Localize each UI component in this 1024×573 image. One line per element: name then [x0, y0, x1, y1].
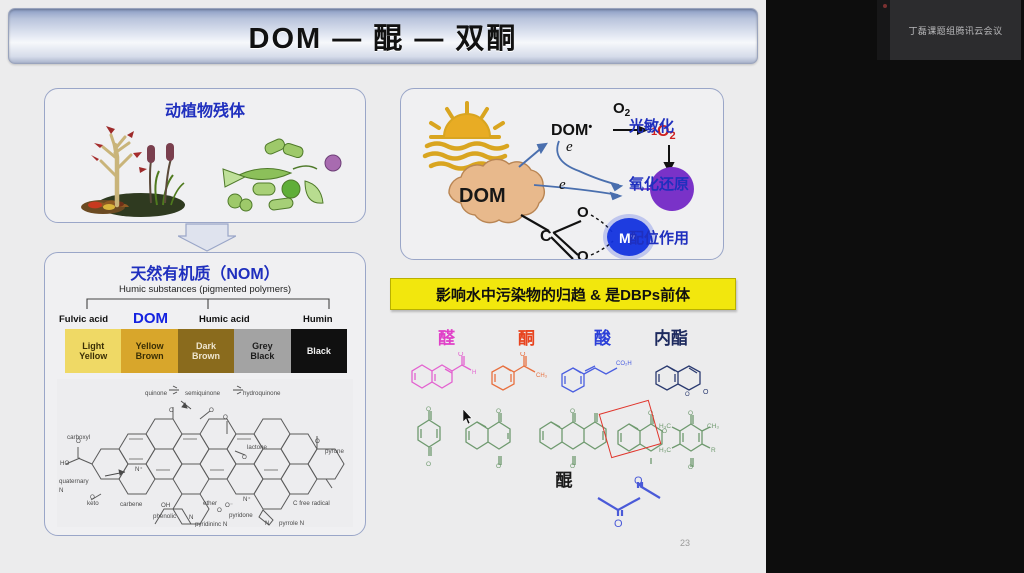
molecule-anthraquinone: [540, 413, 606, 465]
dom-excited-label: DOM•: [551, 121, 592, 139]
nom-panel: 天然有机质（NOM） Humic substances (pigmented p…: [44, 252, 366, 536]
diketone-o-label-top: O: [634, 476, 643, 487]
label-phenolic: phenolic: [153, 513, 176, 520]
label-quaternary-n: quaternary: [59, 478, 89, 485]
key-message-text: 影响水中污染物的归趋 & 是DBPs前体: [436, 284, 690, 305]
carbonyl-molecule-row: O H O CH₃ CO₂H O O: [404, 352, 724, 404]
quinone-o-label: O: [688, 410, 693, 417]
quinone-o-label: O: [426, 406, 431, 413]
segment-line2: Brown: [192, 351, 220, 361]
label-n-pyridine: N: [189, 514, 193, 521]
label-o-lactone-ring: O: [242, 454, 247, 461]
segment-line1: Grey: [252, 341, 273, 351]
molecule-naphthaldehyde: [412, 356, 471, 388]
ketone-o-label: O: [520, 352, 526, 358]
humic-substances-bracket: [67, 296, 347, 310]
label-o-quinone: O: [169, 407, 174, 414]
label-o-pyrone: O: [315, 438, 320, 445]
segment-line1: Yellow: [136, 341, 164, 351]
nom-panel-title: 天然有机质（NOM）: [45, 260, 365, 284]
class-label-ketone: 酮: [518, 324, 535, 349]
molecule-coumarin: [656, 366, 700, 390]
nom-fraction-labels: Fulvic acid DOM Humic acid Humin: [55, 310, 355, 328]
dom-cloud-label: DOM: [459, 185, 506, 207]
segment-line2: Yellow: [79, 351, 107, 361]
label-quaternary-n2: N: [59, 487, 63, 494]
slide-title-banner: DOM — 醌 — 双酮: [8, 8, 758, 64]
nom-color-bar: Light Yellow Yellow Brown Dark Brown Gre…: [65, 329, 347, 373]
segment-line1: Light: [82, 341, 104, 351]
quinone-o-label: O: [570, 408, 575, 415]
slide-stage: DOM — 醌 — 双酮 动植物残体: [0, 0, 766, 573]
effect-label-photosensitization: 光敏化: [629, 115, 674, 136]
carbonyl-class-labels: 醛 酮 酸 内酯: [404, 324, 724, 352]
label-o-lactone: O: [223, 414, 228, 421]
label-hydroquinone: hydroquinone: [243, 390, 281, 397]
aldehyde-o-label: O: [458, 352, 464, 358]
nom-color-segment: Black: [291, 329, 347, 373]
nom-color-segment: Yellow Brown: [121, 329, 177, 373]
nom-label-fulvic-acid: Fulvic acid: [59, 314, 108, 325]
video-thumbnail-label: 丁磊课题组腾讯云会议: [908, 24, 1002, 37]
label-oh: OH: [161, 502, 170, 509]
segment-line1: Black: [307, 346, 331, 356]
humic-structure-diagram: quinone semiquinone hydroquinone carboxy…: [57, 379, 353, 527]
label-pyridininc-n: pyridininc N: [195, 521, 227, 527]
ketone-ch3-label: CH₃: [536, 373, 548, 379]
effect-label-coordination: 配位作用: [629, 227, 689, 248]
oxygen-atom-label-bottom: O: [577, 248, 589, 259]
molecule-trimethyl-benzoquinone-R: [672, 415, 710, 467]
label-o-carboxyl: O: [76, 438, 81, 445]
label-n-pyridone: N⁺: [243, 496, 251, 503]
label-c-free-radical: C free radical: [293, 500, 330, 507]
acid-co2h-label: CO₂H: [616, 361, 632, 367]
photochemistry-panel: DOM DOM• O2 1 O2: [400, 88, 724, 260]
slide-page-number: 23: [680, 538, 690, 548]
quinone-molecule-row: O O O O O O O O O O H₃C CH₃ H₃C R: [404, 406, 724, 470]
trimethyl-h3c-label-2: H₃C: [659, 447, 671, 454]
biomass-panel: 动植物残体: [44, 88, 366, 223]
segment-line2: Black: [250, 351, 274, 361]
label-keto: keto: [87, 500, 99, 507]
class-label-acid: 酸: [594, 324, 611, 349]
nom-color-segment: Grey Black: [234, 329, 290, 373]
nom-label-humin: Humin: [303, 314, 333, 325]
carbon-atom-label: C: [540, 228, 552, 245]
video-thumbnail[interactable]: 丁磊课题组腾讯云会议: [890, 0, 1021, 60]
electron-label-2: e: [559, 177, 566, 193]
diketone-o-label-bottom: O: [614, 518, 623, 528]
electron-label-1: e: [566, 139, 573, 155]
label-o-ether: O: [217, 507, 222, 514]
page-title: DOM — 醌 — 双酮: [249, 15, 518, 57]
segment-line2: Brown: [136, 351, 164, 361]
aldehyde-h-label: H: [472, 370, 476, 376]
flow-down-arrow-icon: [178, 222, 236, 252]
molecule-benzoquinone: [418, 411, 440, 456]
label-n-quaternary: N⁺: [135, 466, 143, 473]
mouse-cursor-icon: [463, 409, 474, 425]
quinone-o-label: O: [496, 408, 501, 415]
label-carbene: carbene: [120, 501, 143, 508]
molecule-cinnamic-acid: [562, 366, 617, 392]
molecule-acetophenone: [492, 356, 535, 390]
trimethyl-h3c-label-1: H₃C: [659, 423, 671, 430]
trimethyl-ch3-label: CH₃: [707, 423, 719, 430]
lactone-o-label: O: [703, 389, 709, 396]
trimethyl-r-label: R: [711, 447, 716, 454]
label-quinone: quinone: [145, 390, 168, 397]
label-ho: HO: [60, 460, 69, 467]
lactone-ring-o-label: O: [685, 392, 690, 398]
label-pyrone: pyrone: [325, 448, 344, 455]
label-ether: ether: [203, 500, 217, 507]
class-label-aldehyde: 醛: [438, 324, 455, 349]
label-pyridone: pyridone: [229, 512, 253, 519]
effect-label-redox: 氧化还原: [629, 173, 689, 194]
key-message-banner: 影响水中污染物的归趋 & 是DBPs前体: [390, 278, 736, 310]
label-o-semiquinone: O: [209, 407, 214, 414]
class-label-lactone: 内酯: [654, 324, 688, 349]
segment-line1: Dark: [196, 341, 216, 351]
nom-label-dom: DOM: [133, 310, 168, 327]
oxygen-atom-label-top: O: [577, 204, 589, 221]
nom-color-segment: Dark Brown: [178, 329, 234, 373]
label-semiquinone: semiquinone: [185, 390, 221, 397]
label-n-pyrrole: N: [265, 520, 269, 527]
recording-indicator-dot: [883, 4, 887, 8]
nom-label-humic-acid: Humic acid: [199, 314, 250, 325]
label-o-keto: O: [90, 494, 95, 501]
label-lactone: lactone: [247, 444, 268, 451]
video-side-strip: [877, 0, 890, 60]
nom-subtitle: Humic substances (pigmented polymers): [45, 284, 365, 295]
plant-and-algae-illustration: [53, 117, 357, 217]
label-o-pyridone: O⁻: [225, 502, 233, 509]
black-background-area: [766, 0, 1024, 573]
nom-color-segment: Light Yellow: [65, 329, 121, 373]
diketone-molecule: O O: [586, 476, 682, 528]
label-pyrrole-n: pyrrole N: [279, 520, 304, 527]
